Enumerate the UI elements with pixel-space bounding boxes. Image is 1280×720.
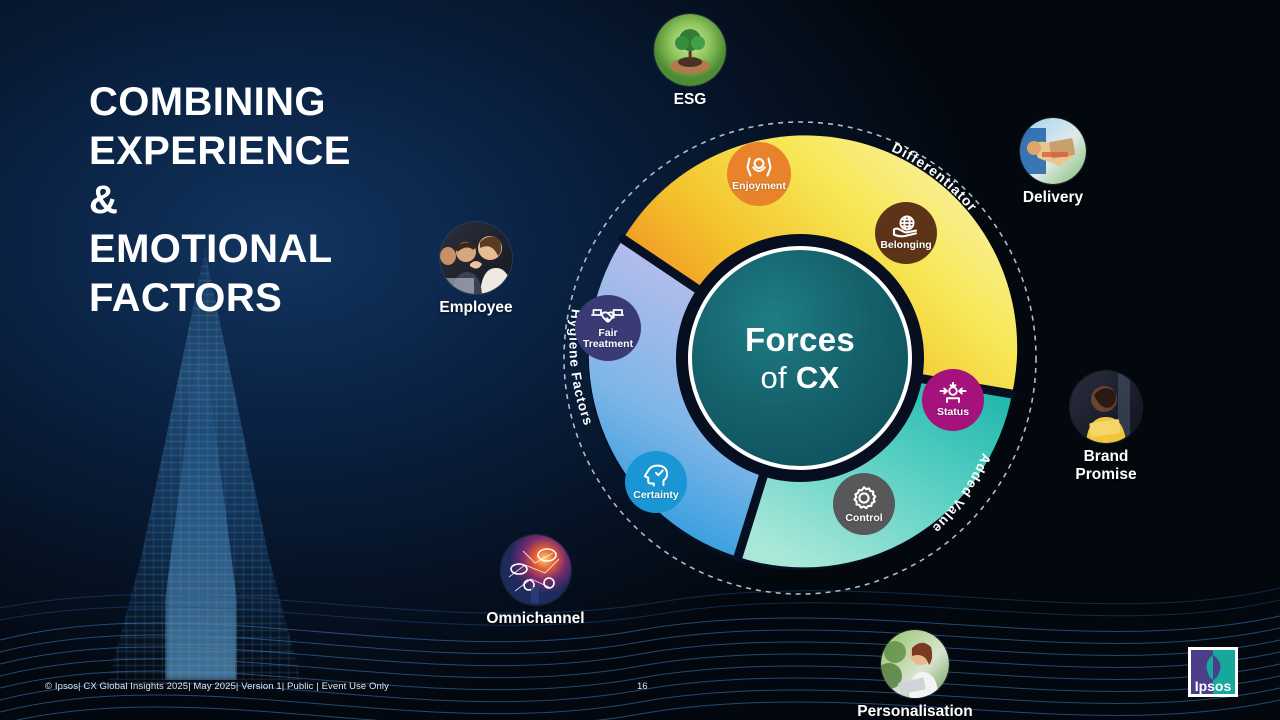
bubble-label-delivery: Delivery (1010, 189, 1096, 207)
forces-of-cx-wheel: Differentiator Hygiene Factors Added Val… (540, 98, 1060, 618)
hub-line-2: of CX (760, 360, 839, 396)
force-label-belonging: Belonging (880, 240, 931, 251)
force-badge-belonging[interactable]: Belonging (875, 202, 937, 264)
bubble-delivery[interactable]: Delivery (1010, 118, 1096, 207)
force-badge-certainty[interactable]: Certainty (625, 451, 687, 513)
slide-canvas: COMBINING EXPERIENCE & EMOTIONAL FACTORS (0, 0, 1280, 720)
footer-copyright: © Ipsos| CX Global Insights 2025| May 20… (45, 681, 389, 692)
page-number: 16 (637, 681, 648, 692)
title-line-1: COMBINING (89, 78, 449, 127)
title-line-3: & (89, 176, 449, 225)
hub-line-1: Forces (745, 321, 855, 359)
force-label-enjoyment: Enjoyment (732, 181, 786, 192)
team-applauding-photo (440, 222, 512, 294)
cheering-person-icon (744, 156, 774, 180)
globe-in-hand-icon (891, 215, 921, 239)
force-badge-control[interactable]: Control (833, 473, 895, 535)
title-line-5: FACTORS (89, 274, 449, 323)
force-label-fair-treatment-line1: Fair (598, 328, 617, 339)
title-line-4: EMOTIONAL (89, 225, 449, 274)
force-label-certainty: Certainty (633, 490, 679, 501)
force-label-control: Control (845, 513, 882, 524)
bubble-label-brand-promise: Brand Promise (1058, 448, 1154, 484)
hub-forces-of-cx: Forces of CX (688, 246, 912, 470)
bubble-personalisation[interactable]: Personalisation (835, 630, 995, 720)
bubble-brand-promise[interactable]: Brand Promise (1058, 371, 1154, 484)
network-globe-photo (501, 535, 571, 605)
gear-icon (850, 484, 878, 512)
ipsos-wordmark: Ipsos (1195, 678, 1232, 694)
bubble-label-personalisation: Personalisation (835, 703, 995, 720)
parcel-handover-photo (1020, 118, 1086, 184)
bubble-label-employee: Employee (430, 299, 522, 317)
bubble-employee[interactable]: Employee (430, 222, 522, 317)
force-badge-enjoyment[interactable]: Enjoyment (727, 142, 791, 206)
bubble-label-omnichannel: Omnichannel (478, 610, 593, 628)
force-label-fair-treatment-line2: Treatment (583, 339, 633, 350)
page-title: COMBINING EXPERIENCE & EMOTIONAL FACTORS (89, 78, 449, 323)
arrows-to-person-icon (937, 382, 969, 406)
woman-with-laptop-outdoors-photo (881, 630, 949, 698)
hub-line-2-cx: CX (796, 360, 840, 395)
bubble-esg[interactable]: ESG (645, 14, 735, 109)
ipsos-logo: Ipsos (1186, 645, 1240, 699)
title-line-2: EXPERIENCE (89, 127, 449, 176)
force-label-status: Status (937, 407, 969, 418)
bubble-omnichannel[interactable]: Omnichannel (478, 535, 593, 628)
head-check-icon (642, 463, 670, 489)
hub-line-2-of: of (760, 360, 786, 395)
force-badge-status[interactable]: Status (922, 369, 984, 431)
handshake-scales-icon (591, 307, 625, 327)
bubble-label-esg: ESG (645, 91, 735, 109)
tree-sapling-in-hands-photo (654, 14, 726, 86)
woman-with-tablet-photo (1070, 371, 1142, 443)
force-badge-fair-treatment[interactable]: Fair Treatment (575, 295, 641, 361)
